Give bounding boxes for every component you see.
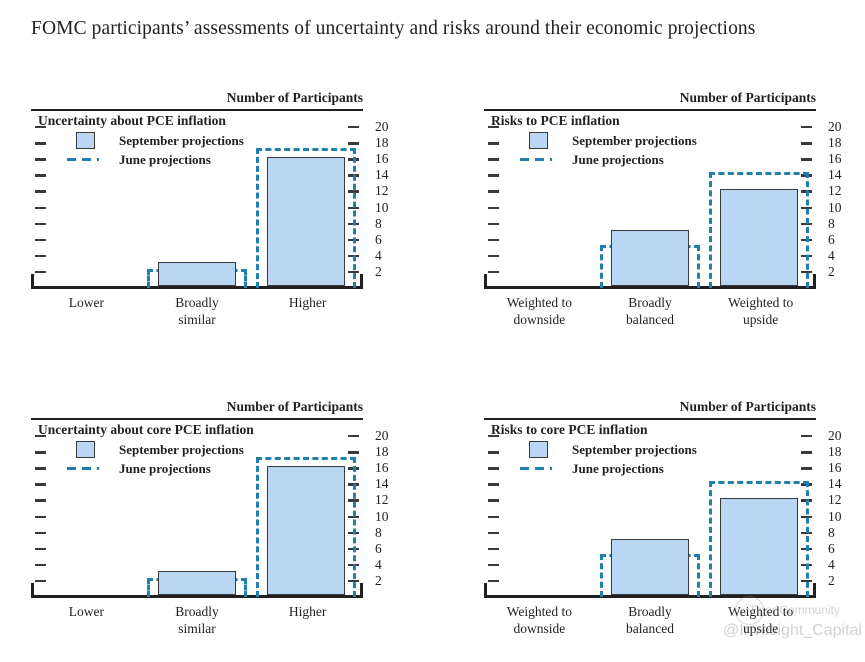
bar-september-projection (267, 157, 345, 286)
y-tick-label: 14 (828, 477, 842, 491)
x-axis-labels: Weighted todownsideBroadlybalancedWeight… (484, 603, 816, 637)
x-axis-label: Higher (252, 294, 363, 328)
plot-area: Risks to PCE inflationSeptember projecti… (484, 109, 816, 289)
axis-right-stub (360, 274, 363, 289)
x-axis-label: Higher (252, 603, 363, 637)
bar-slot (251, 111, 360, 286)
bar-slot (34, 420, 143, 595)
plot-area: Uncertainty about core PCE inflationSept… (31, 418, 363, 598)
y-tick-label: 20 (828, 429, 842, 443)
y-tick-label: 16 (828, 461, 842, 475)
y-tick-label: 8 (828, 217, 835, 231)
y-tick-label: 10 (375, 510, 389, 524)
chart-units-label: Number of Participants (227, 399, 363, 415)
y-tick-label: 20 (375, 429, 389, 443)
bar-slot (251, 420, 360, 595)
y-tick-label: 14 (828, 168, 842, 182)
bar-september-projection (267, 466, 345, 595)
x-axis-label: Broadlybalanced (595, 603, 706, 637)
x-axis-label: Lower (31, 603, 142, 637)
y-tick-label: 6 (828, 233, 835, 247)
bar-group (34, 420, 360, 595)
plot-area: Risks to core PCE inflationSeptember pro… (484, 418, 816, 598)
bar-september-projection (158, 262, 236, 286)
y-tick-label: 2 (375, 574, 382, 588)
bar-slot (704, 111, 813, 286)
bar-slot (487, 420, 596, 595)
y-tick-label: 20 (375, 120, 389, 134)
y-tick-label: 2 (828, 265, 835, 279)
y-tick-label: 4 (828, 558, 835, 572)
chart-units-label: Number of Participants (227, 90, 363, 106)
y-tick-label: 4 (375, 558, 382, 572)
x-axis-label: Lower (31, 294, 142, 328)
plot-area: Uncertainty about PCE inflationSeptember… (31, 109, 363, 289)
bar-september-projection (611, 230, 689, 286)
axis-right-stub (813, 583, 816, 598)
bar-group (487, 420, 813, 595)
y-tick-label: 10 (828, 201, 842, 215)
x-axis-label: Broadlysimilar (142, 294, 253, 328)
y-tick-label: 14 (375, 168, 389, 182)
x-axis-labels: Weighted todownsideBroadlybalancedWeight… (484, 294, 816, 328)
y-tick-label: 18 (375, 136, 389, 150)
x-axis-label: Weighted toupside (705, 294, 816, 328)
y-tick-label: 20 (828, 120, 842, 134)
bar-group (487, 111, 813, 286)
bar-september-projection (720, 189, 798, 286)
x-axis-label: Weighted todownside (484, 603, 595, 637)
x-axis-label: Broadlysimilar (142, 603, 253, 637)
y-tick-label: 16 (375, 152, 389, 166)
y-tick-label: 8 (828, 526, 835, 540)
bar-slot (704, 420, 813, 595)
x-axis-labels: LowerBroadlysimilarHigher (31, 294, 363, 328)
chart-units-label: Number of Participants (680, 90, 816, 106)
y-tick-label: 14 (375, 477, 389, 491)
axis-right-stub (813, 274, 816, 289)
x-axis-labels: LowerBroadlysimilarHigher (31, 603, 363, 637)
y-tick-label: 18 (375, 445, 389, 459)
x-axis-label: Weighted todownside (484, 294, 595, 328)
y-tick-label: 2 (375, 265, 382, 279)
y-tick-label: 18 (828, 136, 842, 150)
y-tick-label: 4 (828, 249, 835, 263)
y-tick-label: 16 (828, 152, 842, 166)
bar-slot (487, 111, 596, 286)
axis-right-stub (360, 583, 363, 598)
y-tick-label: 12 (828, 493, 842, 507)
x-axis-label: Broadlybalanced (595, 294, 706, 328)
y-tick-label: 4 (375, 249, 382, 263)
chart-units-label: Number of Participants (680, 399, 816, 415)
bar-slot (143, 420, 252, 595)
y-tick-label: 6 (828, 542, 835, 556)
x-axis-label: Weighted toupside (705, 603, 816, 637)
bar-september-projection (158, 571, 236, 595)
y-tick-label: 12 (828, 184, 842, 198)
bar-september-projection (720, 498, 798, 595)
y-tick-label: 6 (375, 233, 382, 247)
bar-slot (596, 111, 705, 286)
y-tick-label: 12 (375, 493, 389, 507)
y-tick-label: 16 (375, 461, 389, 475)
bar-september-projection (611, 539, 689, 595)
y-tick-label: 8 (375, 526, 382, 540)
bar-group (34, 111, 360, 286)
bar-slot (143, 111, 252, 286)
y-tick-label: 18 (828, 445, 842, 459)
y-tick-label: 6 (375, 542, 382, 556)
y-tick-label: 10 (828, 510, 842, 524)
y-tick-label: 12 (375, 184, 389, 198)
y-tick-label: 2 (828, 574, 835, 588)
y-tick-label: 8 (375, 217, 382, 231)
bar-slot (34, 111, 143, 286)
y-tick-label: 10 (375, 201, 389, 215)
page-title: FOMC participants’ assessments of uncert… (31, 18, 755, 40)
bar-slot (596, 420, 705, 595)
